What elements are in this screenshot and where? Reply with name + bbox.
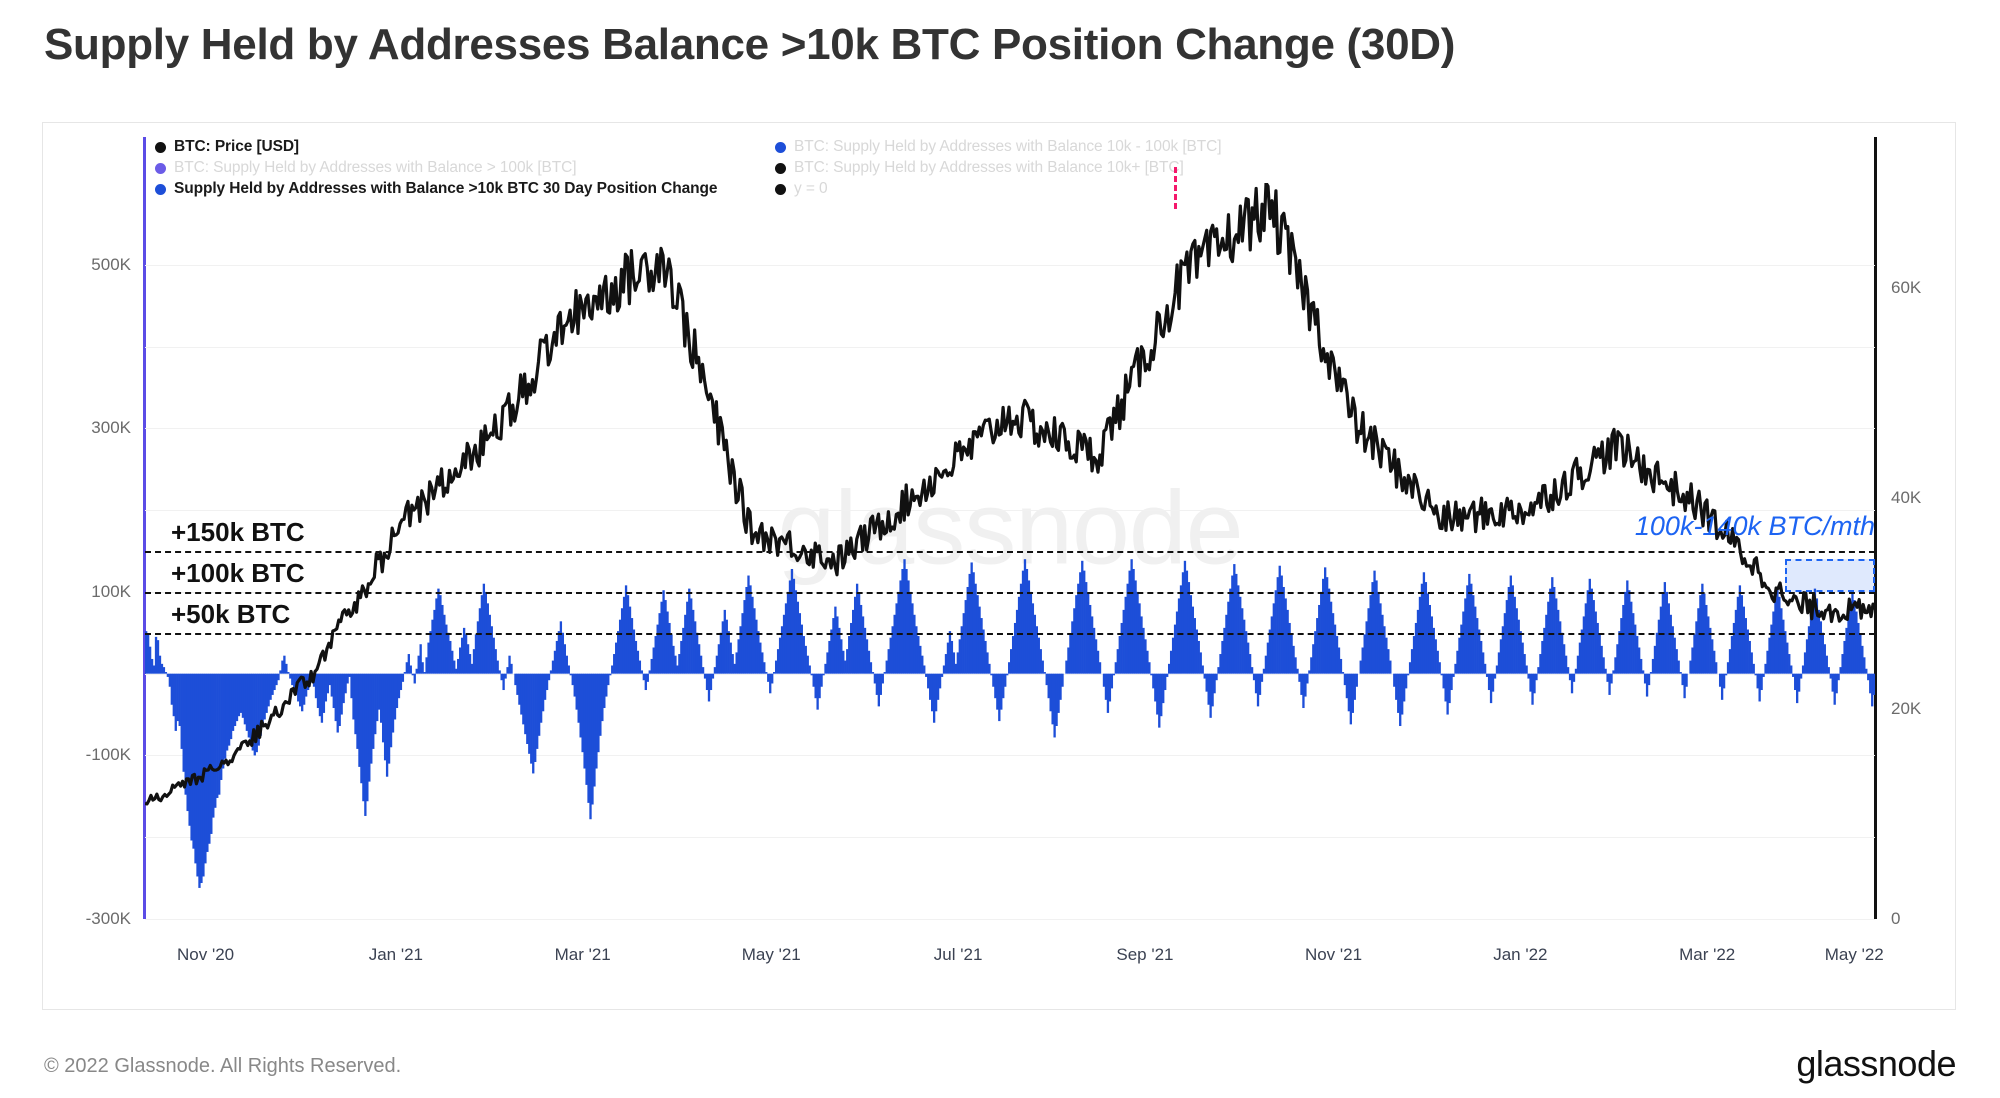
annotation-line-plus-100k <box>145 592 1875 594</box>
y-axis-right-tick-label: 20K <box>1891 699 1921 719</box>
x-axis-tick-label: Sep '21 <box>1116 945 1173 965</box>
annotation-line-plus-50k <box>145 633 1875 635</box>
legend-item-supply-10k-100k[interactable]: BTC: Supply Held by Addresses with Balan… <box>775 137 1221 157</box>
legend-dot-icon <box>155 163 166 174</box>
x-axis-tick-label: Jan '22 <box>1493 945 1547 965</box>
red-marker <box>1174 167 1177 209</box>
legend-item-btc-price[interactable]: BTC: Price [USD] <box>155 137 717 157</box>
y-axis-left-tick-label: -100K <box>86 745 131 765</box>
annotation-label-plus-150k: +150k BTC <box>171 517 305 548</box>
y-axis-right-tick-label: 40K <box>1891 488 1921 508</box>
x-axis-tick-label: Jan '21 <box>369 945 423 965</box>
x-axis-tick-label: Nov '20 <box>177 945 234 965</box>
legend-label: BTC: Price [USD] <box>174 138 299 156</box>
x-axis-tick-label: Nov '21 <box>1305 945 1362 965</box>
y-axis-left-tick-label: -300K <box>86 909 131 929</box>
x-axis-tick-label: Mar '22 <box>1679 945 1735 965</box>
y-axis-left-tick-label: 300K <box>91 418 131 438</box>
callout-label: 100k-140k BTC/mth <box>1635 511 1875 542</box>
legend-label: BTC: Supply Held by Addresses with Balan… <box>174 159 576 177</box>
legend-item-supply-100k[interactable]: BTC: Supply Held by Addresses with Balan… <box>155 158 717 178</box>
callout-highlight-box <box>1785 559 1875 592</box>
x-axis-tick-label: Mar '21 <box>555 945 611 965</box>
legend-dot-icon <box>775 163 786 174</box>
page-title: Supply Held by Addresses Balance >10k BT… <box>44 20 1455 70</box>
glassnode-logo: glassnode <box>1796 1043 1956 1085</box>
legend-label: BTC: Supply Held by Addresses with Balan… <box>794 138 1221 156</box>
annotation-label-plus-50k: +50k BTC <box>171 599 290 630</box>
legend-dot-icon <box>155 142 166 153</box>
chart-card: BTC: Price [USD] BTC: Supply Held by Add… <box>42 122 1956 1010</box>
x-axis-tick-label: May '22 <box>1825 945 1884 965</box>
legend-dot-icon <box>775 142 786 153</box>
copyright-text: © 2022 Glassnode. All Rights Reserved. <box>44 1055 401 1078</box>
plot-area: glassnode 500K300K100K-100K-300K60K40K20… <box>145 183 1875 919</box>
annotation-label-plus-100k: +100k BTC <box>171 558 305 589</box>
legend-label: BTC: Supply Held by Addresses with Balan… <box>794 159 1184 177</box>
y-axis-left-tick-label: 100K <box>91 582 131 602</box>
gridline <box>145 919 1875 920</box>
annotation-line-plus-150k <box>145 551 1875 553</box>
x-axis-tick-label: Jul '21 <box>934 945 983 965</box>
y-axis-right-tick-label: 0 <box>1891 909 1900 929</box>
y-axis-left-tick-label: 500K <box>91 255 131 275</box>
x-axis-tick-label: May '21 <box>742 945 801 965</box>
legend-item-supply-10k-plus[interactable]: BTC: Supply Held by Addresses with Balan… <box>775 158 1221 178</box>
y-axis-right-tick-label: 60K <box>1891 278 1921 298</box>
